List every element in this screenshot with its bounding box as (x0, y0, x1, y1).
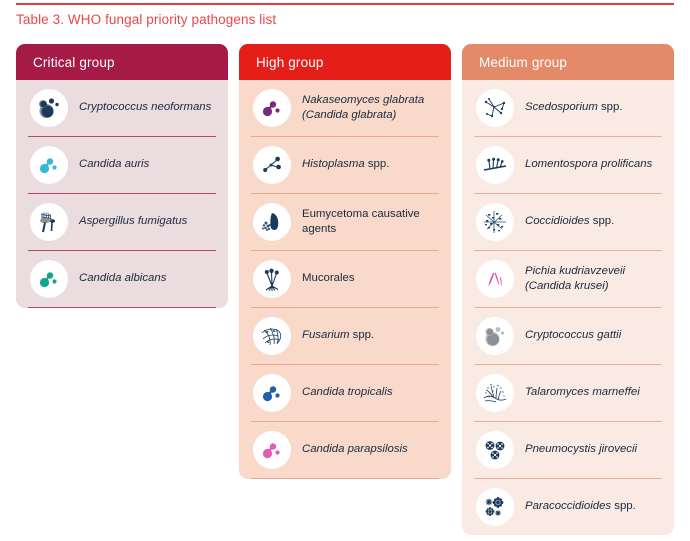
pathogen-name: Cryptococcus gattii (525, 328, 621, 343)
nakaseomyces-glabrata-icon (253, 89, 291, 127)
fusarium-icon (253, 317, 291, 355)
aspergillus-fumigatus-icon (30, 203, 68, 241)
column-critical-group: Critical group Cryptococcus neoform (16, 44, 228, 308)
pneumocystis-jirovecii-icon (476, 431, 514, 469)
pathogen-name: Paracoccidioides spp. (525, 499, 636, 514)
pathogen-name: Fusarium spp. (302, 328, 374, 343)
column-high-group: High group Nakaseomyces glabrata (Candid… (239, 44, 451, 479)
pathogen-row[interactable]: Fusarium spp. (251, 308, 439, 365)
candida-tropicalis-icon (253, 374, 291, 412)
pathogen-row[interactable]: Cryptococcus gattii (474, 308, 662, 365)
column-header-critical: Critical group (16, 44, 228, 80)
paracoccidioides-icon (476, 488, 514, 526)
pathogen-row[interactable]: Scedosporium spp. (474, 80, 662, 137)
eumycetoma-icon (253, 203, 291, 241)
pathogen-row[interactable]: Aspergillus fumigatus (28, 194, 216, 251)
pathogen-row[interactable]: Candida tropicalis (251, 365, 439, 422)
pathogen-name: Lomentospora prolificans (525, 157, 652, 172)
column-body-high: Nakaseomyces glabrata (Candida glabrata) (239, 80, 451, 479)
mucorales-icon (253, 260, 291, 298)
pathogen-name: Talaromyces marneffei (525, 385, 640, 400)
column-medium-group: Medium group (462, 44, 674, 535)
pathogen-name: Nakaseomyces glabrata (Candida glabrata) (302, 93, 437, 123)
table-caption: Table 3. WHO fungal priority pathogens l… (16, 12, 276, 27)
pathogen-row[interactable]: Pneumocystis jirovecii (474, 422, 662, 479)
pathogen-row[interactable]: Paracoccidioides spp. (474, 479, 662, 535)
top-rule-divider (16, 3, 674, 5)
pathogen-row[interactable]: Eumycetoma causative agents (251, 194, 439, 251)
pathogen-row[interactable]: Histoplasma spp. (251, 137, 439, 194)
candida-albicans-icon (30, 260, 68, 298)
pathogen-name: Mucorales (302, 271, 355, 286)
column-body-critical: Cryptococcus neoformans Candida auris (16, 80, 228, 308)
candida-auris-icon (30, 146, 68, 184)
pathogen-name: Pichia kudriavzeveii (Candida krusei) (525, 264, 660, 294)
pathogen-name: Candida parapsilosis (302, 442, 408, 457)
pathogen-name: Coccidioides spp. (525, 214, 614, 229)
pathogen-name: Candida auris (79, 157, 149, 172)
cryptococcus-neoformans-icon (30, 89, 68, 127)
table-figure: Table 3. WHO fungal priority pathogens l… (0, 0, 690, 541)
pichia-kudriavzeveii-icon (476, 260, 514, 298)
pathogen-row[interactable]: Talaromyces marneffei (474, 365, 662, 422)
pathogen-name: Cryptococcus neoformans (79, 100, 211, 115)
pathogen-name: Histoplasma spp. (302, 157, 389, 172)
column-body-medium: Scedosporium spp. (462, 80, 674, 535)
histoplasma-icon (253, 146, 291, 184)
scedosporium-icon (476, 89, 514, 127)
pathogen-row[interactable]: Candida parapsilosis (251, 422, 439, 479)
talaromyces-marneffei-icon (476, 374, 514, 412)
pathogen-row[interactable]: Mucorales (251, 251, 439, 308)
pathogen-name: Scedosporium spp. (525, 100, 623, 115)
pathogen-name: Candida tropicalis (302, 385, 393, 400)
pathogen-row[interactable]: Candida auris (28, 137, 216, 194)
cryptococcus-gattii-icon (476, 317, 514, 355)
pathogen-name: Eumycetoma causative agents (302, 207, 437, 237)
column-header-high: High group (239, 44, 451, 80)
pathogen-row[interactable]: Pichia kudriavzeveii (Candida krusei) (474, 251, 662, 308)
candida-parapsilosis-icon (253, 431, 291, 469)
pathogen-name: Candida albicans (79, 271, 166, 286)
priority-group-columns: Critical group Cryptococcus neoform (16, 44, 674, 535)
pathogen-row[interactable]: Coccidioides spp. (474, 194, 662, 251)
pathogen-name: Pneumocystis jirovecii (525, 442, 637, 457)
coccidioides-icon (476, 203, 514, 241)
pathogen-name: Aspergillus fumigatus (79, 214, 187, 229)
pathogen-row[interactable]: Nakaseomyces glabrata (Candida glabrata) (251, 80, 439, 137)
column-header-medium: Medium group (462, 44, 674, 80)
pathogen-row[interactable]: Candida albicans (28, 251, 216, 308)
lomentospora-prolificans-icon (476, 146, 514, 184)
pathogen-row[interactable]: Lomentospora prolificans (474, 137, 662, 194)
pathogen-row[interactable]: Cryptococcus neoformans (28, 80, 216, 137)
